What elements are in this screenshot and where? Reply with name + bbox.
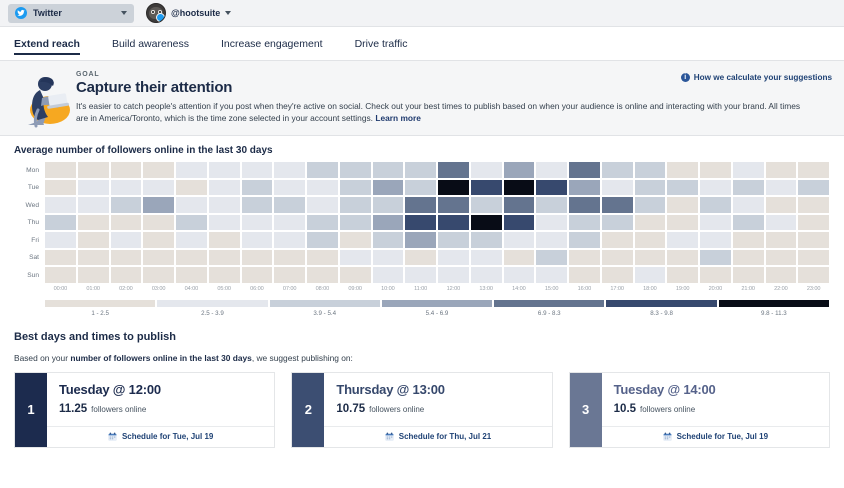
heatmap-cell[interactable] <box>77 161 110 179</box>
heatmap-cell[interactable] <box>110 161 143 179</box>
goal-tabs: Extend reach Build awareness Increase en… <box>0 27 844 61</box>
subtitle-bold: number of followers online in the last 3… <box>70 353 252 363</box>
heatmap-cell[interactable] <box>44 179 77 197</box>
heatmap-cell[interactable] <box>142 196 175 214</box>
heatmap-cell[interactable] <box>797 214 830 232</box>
heatmap-cell[interactable] <box>470 249 503 267</box>
verified-badge-icon <box>156 13 165 22</box>
heatmap-cell[interactable] <box>470 266 503 284</box>
heatmap-cell[interactable] <box>142 179 175 197</box>
heatmap-hour-label: 23:00 <box>797 286 830 292</box>
heatmap-cell[interactable] <box>699 161 732 179</box>
heatmap-cell[interactable] <box>601 179 634 197</box>
heatmap-cell[interactable] <box>666 214 699 232</box>
heatmap-cell[interactable] <box>208 196 241 214</box>
best-times-title: Best days and times to publish <box>14 331 830 343</box>
legend-swatch <box>270 300 380 307</box>
heatmap-hour-label: 12:00 <box>437 286 470 292</box>
heatmap-legend: 1 - 2.52.5 - 3.93.9 - 5.45.4 - 6.96.9 - … <box>44 300 830 317</box>
card-followers-unit: followers online <box>91 405 146 414</box>
heatmap-cell[interactable] <box>372 214 405 232</box>
heatmap-cell[interactable] <box>666 161 699 179</box>
heatmap-cell[interactable] <box>339 214 372 232</box>
legend-item: 6.9 - 8.3 <box>493 300 605 317</box>
best-times-cards: 1Tuesday @ 12:0011.25followers onlineSch… <box>14 372 830 448</box>
heatmap-cell[interactable] <box>44 249 77 267</box>
account-handle: @hootsuite <box>171 8 220 18</box>
legend-label: 1 - 2.5 <box>45 310 155 317</box>
heatmap-cell[interactable] <box>568 231 601 249</box>
heatmap-cell[interactable] <box>732 179 765 197</box>
heatmap-hour-label: 17:00 <box>601 286 634 292</box>
heatmap-cell[interactable] <box>470 196 503 214</box>
heatmap-cell[interactable] <box>208 231 241 249</box>
account-selector[interactable]: @hootsuite <box>144 3 231 23</box>
calendar-icon <box>385 432 394 441</box>
heatmap-cell[interactable] <box>732 214 765 232</box>
legend-item: 8.3 - 9.8 <box>605 300 717 317</box>
heatmap-grid <box>44 161 830 284</box>
goal-banner: GOAL Capture their attention It's easier… <box>0 61 844 136</box>
heatmap-cell[interactable] <box>535 249 568 267</box>
heatmap-cell[interactable] <box>503 266 536 284</box>
network-selector[interactable]: Twitter <box>8 4 134 23</box>
tab-build-awareness[interactable]: Build awareness <box>96 27 205 61</box>
heatmap-cell[interactable] <box>568 266 601 284</box>
card-followers-value: 10.5 <box>614 403 636 415</box>
heatmap-cell[interactable] <box>372 196 405 214</box>
heatmap-cell[interactable] <box>110 214 143 232</box>
heatmap-cell[interactable] <box>470 161 503 179</box>
heatmap-cell[interactable] <box>110 266 143 284</box>
heatmap-cell[interactable] <box>142 161 175 179</box>
heatmap-hour-label: 19:00 <box>666 286 699 292</box>
legend-label: 5.4 - 6.9 <box>382 310 492 317</box>
heatmap-cell[interactable] <box>306 231 339 249</box>
twitter-bird-icon <box>15 7 27 19</box>
heatmap-cell[interactable] <box>470 179 503 197</box>
heatmap-cell[interactable] <box>339 161 372 179</box>
heatmap-cell[interactable] <box>601 214 634 232</box>
heatmap-cell[interactable] <box>339 179 372 197</box>
heatmap-cell[interactable] <box>339 266 372 284</box>
card-rank: 3 <box>570 373 602 447</box>
heatmap-day-label: Sat <box>14 249 44 267</box>
heatmap-hour-label: 11:00 <box>404 286 437 292</box>
heatmap-cell[interactable] <box>634 179 667 197</box>
heatmap-cell[interactable] <box>273 266 306 284</box>
legend-label: 9.8 - 11.3 <box>719 310 829 317</box>
goal-description: It's easier to catch people's attention … <box>76 100 802 124</box>
heatmap-hour-label: 07:00 <box>273 286 306 292</box>
heatmap-title: Average number of followers online in th… <box>14 145 830 156</box>
heatmap-cell[interactable] <box>437 196 470 214</box>
chevron-down-icon <box>225 11 231 15</box>
heatmap-cell[interactable] <box>273 249 306 267</box>
learn-more-link[interactable]: Learn more <box>375 113 421 123</box>
heatmap-cell[interactable] <box>241 249 274 267</box>
best-time-card: 3Tuesday @ 14:0010.5followers onlineSche… <box>569 372 830 448</box>
tab-drive-traffic[interactable]: Drive traffic <box>339 27 424 61</box>
heatmap-cell[interactable] <box>241 214 274 232</box>
heatmap-cell[interactable] <box>503 179 536 197</box>
heatmap-cell[interactable] <box>634 231 667 249</box>
card-followers-unit: followers online <box>369 405 424 414</box>
legend-item: 2.5 - 3.9 <box>156 300 268 317</box>
heatmap-cell[interactable] <box>44 196 77 214</box>
heatmap-cell[interactable] <box>142 214 175 232</box>
heatmap-cell[interactable] <box>503 214 536 232</box>
heatmap-cell[interactable] <box>601 196 634 214</box>
heatmap-cell[interactable] <box>175 249 208 267</box>
heatmap-cell[interactable] <box>535 161 568 179</box>
heatmap-cell[interactable] <box>699 231 732 249</box>
legend-label: 6.9 - 8.3 <box>494 310 604 317</box>
heatmap-cell[interactable] <box>503 161 536 179</box>
heatmap-cell[interactable] <box>241 179 274 197</box>
heatmap-cell[interactable] <box>437 179 470 197</box>
schedule-button[interactable]: Schedule for Thu, Jul 21 <box>324 426 551 447</box>
heatmap-cell[interactable] <box>372 231 405 249</box>
heatmap-cell[interactable] <box>470 214 503 232</box>
heatmap-cell[interactable] <box>797 231 830 249</box>
tab-extend-reach[interactable]: Extend reach <box>14 27 96 61</box>
heatmap-cell[interactable] <box>44 231 77 249</box>
heatmap-cell[interactable] <box>44 266 77 284</box>
schedule-label: Schedule for Thu, Jul 21 <box>399 432 491 441</box>
heatmap-cell[interactable] <box>77 179 110 197</box>
heatmap-hour-label: 13:00 <box>470 286 503 292</box>
heatmap-cell[interactable] <box>437 214 470 232</box>
heatmap-cell[interactable] <box>241 196 274 214</box>
heatmap-cell[interactable] <box>765 214 798 232</box>
heatmap-cell[interactable] <box>732 161 765 179</box>
chevron-down-icon <box>121 11 127 15</box>
heatmap-cell[interactable] <box>306 249 339 267</box>
heatmap-cell[interactable] <box>568 214 601 232</box>
heatmap-cell[interactable] <box>372 249 405 267</box>
best-time-card: 1Tuesday @ 12:0011.25followers onlineSch… <box>14 372 275 448</box>
heatmap-cell[interactable] <box>765 249 798 267</box>
heatmap-cell[interactable] <box>765 196 798 214</box>
heatmap-cell[interactable] <box>601 266 634 284</box>
heatmap-hour-label: 21:00 <box>732 286 765 292</box>
person-with-laptop-illustration-icon <box>14 70 76 124</box>
heatmap-cell[interactable] <box>732 266 765 284</box>
heatmap-cell[interactable] <box>404 161 437 179</box>
heatmap-cell[interactable] <box>765 266 798 284</box>
heatmap-cell[interactable] <box>437 161 470 179</box>
legend-swatch <box>157 300 267 307</box>
heatmap-hour-axis: 00:0001:0002:0003:0004:0005:0006:0007:00… <box>44 286 830 292</box>
heatmap-cell[interactable] <box>273 196 306 214</box>
legend-swatch <box>382 300 492 307</box>
heatmap-cell[interactable] <box>175 196 208 214</box>
top-bar: Twitter @hootsuite <box>0 0 844 27</box>
heatmap-cell[interactable] <box>110 196 143 214</box>
heatmap-cell[interactable] <box>634 161 667 179</box>
heatmap-cell[interactable] <box>437 231 470 249</box>
heatmap-cell[interactable] <box>142 249 175 267</box>
heatmap-cell[interactable] <box>797 266 830 284</box>
subtitle-prefix: Based on your <box>14 353 70 363</box>
heatmap-cell[interactable] <box>765 161 798 179</box>
best-time-card: 2Thursday @ 13:0010.75followers onlineSc… <box>291 372 552 448</box>
heatmap-cell[interactable] <box>797 161 830 179</box>
heatmap-cell[interactable] <box>699 266 732 284</box>
heatmap-cell[interactable] <box>568 179 601 197</box>
heatmap-cell[interactable] <box>666 179 699 197</box>
card-day-time: Tuesday @ 12:00 <box>59 382 262 397</box>
heatmap-hour-label: 09:00 <box>339 286 372 292</box>
heatmap-cell[interactable] <box>339 231 372 249</box>
heatmap-hour-label: 15:00 <box>535 286 568 292</box>
heatmap-cell[interactable] <box>797 179 830 197</box>
info-icon: i <box>681 73 690 82</box>
heatmap-hour-label: 01:00 <box>77 286 110 292</box>
heatmap-hour-label: 04:00 <box>175 286 208 292</box>
schedule-label: Schedule for Tue, Jul 19 <box>122 432 213 441</box>
heatmap-cell[interactable] <box>535 214 568 232</box>
heatmap-cell[interactable] <box>175 161 208 179</box>
how-we-calculate-link[interactable]: i How we calculate your suggestions <box>681 73 832 82</box>
heatmap-cell[interactable] <box>77 231 110 249</box>
legend-swatch <box>45 300 155 307</box>
heatmap-day-axis: MonTueWedThuFriSatSun <box>14 161 44 317</box>
heatmap-day-label: Wed <box>14 196 44 214</box>
legend-item: 3.9 - 5.4 <box>269 300 381 317</box>
card-followers-value: 11.25 <box>59 403 87 415</box>
heatmap-cell[interactable] <box>175 214 208 232</box>
schedule-label: Schedule for Tue, Jul 19 <box>677 432 768 441</box>
card-day-time: Thursday @ 13:00 <box>336 382 539 397</box>
heatmap-cell[interactable] <box>732 249 765 267</box>
heatmap-cell[interactable] <box>110 231 143 249</box>
heatmap-cell[interactable] <box>77 266 110 284</box>
heatmap-day-label: Fri <box>14 231 44 249</box>
heatmap-cell[interactable] <box>666 266 699 284</box>
legend-label: 8.3 - 9.8 <box>606 310 716 317</box>
heatmap-day-label: Thu <box>14 214 44 232</box>
heatmap-cell[interactable] <box>306 196 339 214</box>
heatmap-cell[interactable] <box>77 214 110 232</box>
tab-increase-engagement[interactable]: Increase engagement <box>205 27 339 61</box>
card-followers-value: 10.75 <box>336 403 365 415</box>
heatmap-cell[interactable] <box>699 249 732 267</box>
legend-swatch <box>719 300 829 307</box>
network-label: Twitter <box>33 8 115 18</box>
heatmap-cell[interactable] <box>306 179 339 197</box>
heatmap-cell[interactable] <box>372 266 405 284</box>
heatmap-cell[interactable] <box>404 266 437 284</box>
heatmap-cell[interactable] <box>503 231 536 249</box>
heatmap-cell[interactable] <box>601 161 634 179</box>
heatmap-cell[interactable] <box>306 214 339 232</box>
card-rank: 2 <box>292 373 324 447</box>
heatmap-cell[interactable] <box>535 266 568 284</box>
heatmap-cell[interactable] <box>44 161 77 179</box>
heatmap-hour-label: 02:00 <box>110 286 143 292</box>
heatmap-cell[interactable] <box>273 179 306 197</box>
heatmap-cell[interactable] <box>77 249 110 267</box>
heatmap-hour-label: 22:00 <box>765 286 798 292</box>
heatmap-cell[interactable] <box>503 249 536 267</box>
card-rank: 1 <box>15 373 47 447</box>
heatmap-cell[interactable] <box>797 249 830 267</box>
heatmap-cell[interactable] <box>765 179 798 197</box>
goal-description-text: It's easier to catch people's attention … <box>76 101 800 123</box>
heatmap-cell[interactable] <box>666 196 699 214</box>
heatmap-cell[interactable] <box>142 266 175 284</box>
heatmap-cell[interactable] <box>208 179 241 197</box>
heatmap-cell[interactable] <box>339 249 372 267</box>
heatmap-cell[interactable] <box>568 196 601 214</box>
heatmap-cell[interactable] <box>208 214 241 232</box>
best-times-section: Best days and times to publish Based on … <box>0 331 844 448</box>
legend-label: 2.5 - 3.9 <box>157 310 267 317</box>
heatmap-hour-label: 00:00 <box>44 286 77 292</box>
legend-item: 1 - 2.5 <box>44 300 156 317</box>
heatmap-cell[interactable] <box>470 231 503 249</box>
heatmap-cell[interactable] <box>44 214 77 232</box>
heatmap-cell[interactable] <box>535 196 568 214</box>
heatmap-cell[interactable] <box>175 179 208 197</box>
heatmap-cell[interactable] <box>601 231 634 249</box>
heatmap-cell[interactable] <box>699 214 732 232</box>
heatmap-hour-label: 03:00 <box>142 286 175 292</box>
heatmap-cell[interactable] <box>306 161 339 179</box>
heatmap-hour-label: 14:00 <box>503 286 536 292</box>
heatmap-section: Average number of followers online in th… <box>0 145 844 317</box>
heatmap-cell[interactable] <box>241 231 274 249</box>
heatmap-cell[interactable] <box>797 196 830 214</box>
heatmap-cell[interactable] <box>372 179 405 197</box>
heatmap-cell[interactable] <box>404 214 437 232</box>
legend-swatch <box>494 300 604 307</box>
heatmap-day-label: Sun <box>14 266 44 284</box>
heatmap-cell[interactable] <box>273 161 306 179</box>
heatmap-cell[interactable] <box>241 161 274 179</box>
heatmap-cell[interactable] <box>666 249 699 267</box>
heatmap-cell[interactable] <box>437 249 470 267</box>
heatmap-cell[interactable] <box>306 266 339 284</box>
heatmap-cell[interactable] <box>732 196 765 214</box>
heatmap-cell[interactable] <box>208 266 241 284</box>
heatmap-cell[interactable] <box>634 249 667 267</box>
legend-item: 9.8 - 11.3 <box>718 300 830 317</box>
heatmap-cell[interactable] <box>535 179 568 197</box>
how-we-calculate-label: How we calculate your suggestions <box>694 73 832 82</box>
subtitle-suffix: , we suggest publishing on: <box>252 353 353 363</box>
heatmap-cell[interactable] <box>404 249 437 267</box>
heatmap-cell[interactable] <box>666 231 699 249</box>
legend-swatch <box>606 300 716 307</box>
heatmap-cell[interactable] <box>503 196 536 214</box>
heatmap-cell[interactable] <box>568 161 601 179</box>
heatmap-cell[interactable] <box>241 266 274 284</box>
heatmap-cell[interactable] <box>535 231 568 249</box>
heatmap-cell[interactable] <box>634 196 667 214</box>
legend-item: 5.4 - 6.9 <box>381 300 493 317</box>
heatmap-cell[interactable] <box>404 196 437 214</box>
heatmap-cell[interactable] <box>175 231 208 249</box>
heatmap-cell[interactable] <box>110 179 143 197</box>
heatmap-cell[interactable] <box>699 179 732 197</box>
heatmap-cell[interactable] <box>568 249 601 267</box>
heatmap-cell[interactable] <box>601 249 634 267</box>
best-times-subtitle: Based on your number of followers online… <box>14 353 830 363</box>
heatmap-cell[interactable] <box>372 161 405 179</box>
schedule-button[interactable]: Schedule for Tue, Jul 19 <box>602 426 829 447</box>
heatmap-day-label: Mon <box>14 161 44 179</box>
heatmap-hour-label: 18:00 <box>634 286 667 292</box>
heatmap-hour-label: 10:00 <box>372 286 405 292</box>
heatmap-cell[interactable] <box>765 231 798 249</box>
heatmap-cell[interactable] <box>732 231 765 249</box>
schedule-button[interactable]: Schedule for Tue, Jul 19 <box>47 426 274 447</box>
avatar <box>146 3 166 23</box>
heatmap-day-label: Tue <box>14 179 44 197</box>
heatmap-cell[interactable] <box>699 196 732 214</box>
heatmap-cell[interactable] <box>175 266 208 284</box>
heatmap-cell[interactable] <box>208 161 241 179</box>
heatmap-cell[interactable] <box>77 196 110 214</box>
heatmap-hour-label: 16:00 <box>568 286 601 292</box>
heatmap-cell[interactable] <box>404 231 437 249</box>
card-followers-unit: followers online <box>640 405 695 414</box>
heatmap-cell[interactable] <box>339 196 372 214</box>
heatmap-hour-label: 20:00 <box>699 286 732 292</box>
heatmap-cell[interactable] <box>634 214 667 232</box>
heatmap-cell[interactable] <box>404 179 437 197</box>
calendar-icon <box>663 432 672 441</box>
heatmap-cell[interactable] <box>208 249 241 267</box>
heatmap-hour-label: 05:00 <box>208 286 241 292</box>
heatmap-cell[interactable] <box>142 231 175 249</box>
heatmap-cell[interactable] <box>437 266 470 284</box>
heatmap-cell[interactable] <box>110 249 143 267</box>
heatmap-cell[interactable] <box>273 231 306 249</box>
calendar-icon <box>108 432 117 441</box>
heatmap-cell[interactable] <box>634 266 667 284</box>
heatmap-cell[interactable] <box>273 214 306 232</box>
card-day-time: Tuesday @ 14:00 <box>614 382 817 397</box>
heatmap-hour-label: 06:00 <box>241 286 274 292</box>
legend-label: 3.9 - 5.4 <box>270 310 380 317</box>
heatmap-hour-label: 08:00 <box>306 286 339 292</box>
